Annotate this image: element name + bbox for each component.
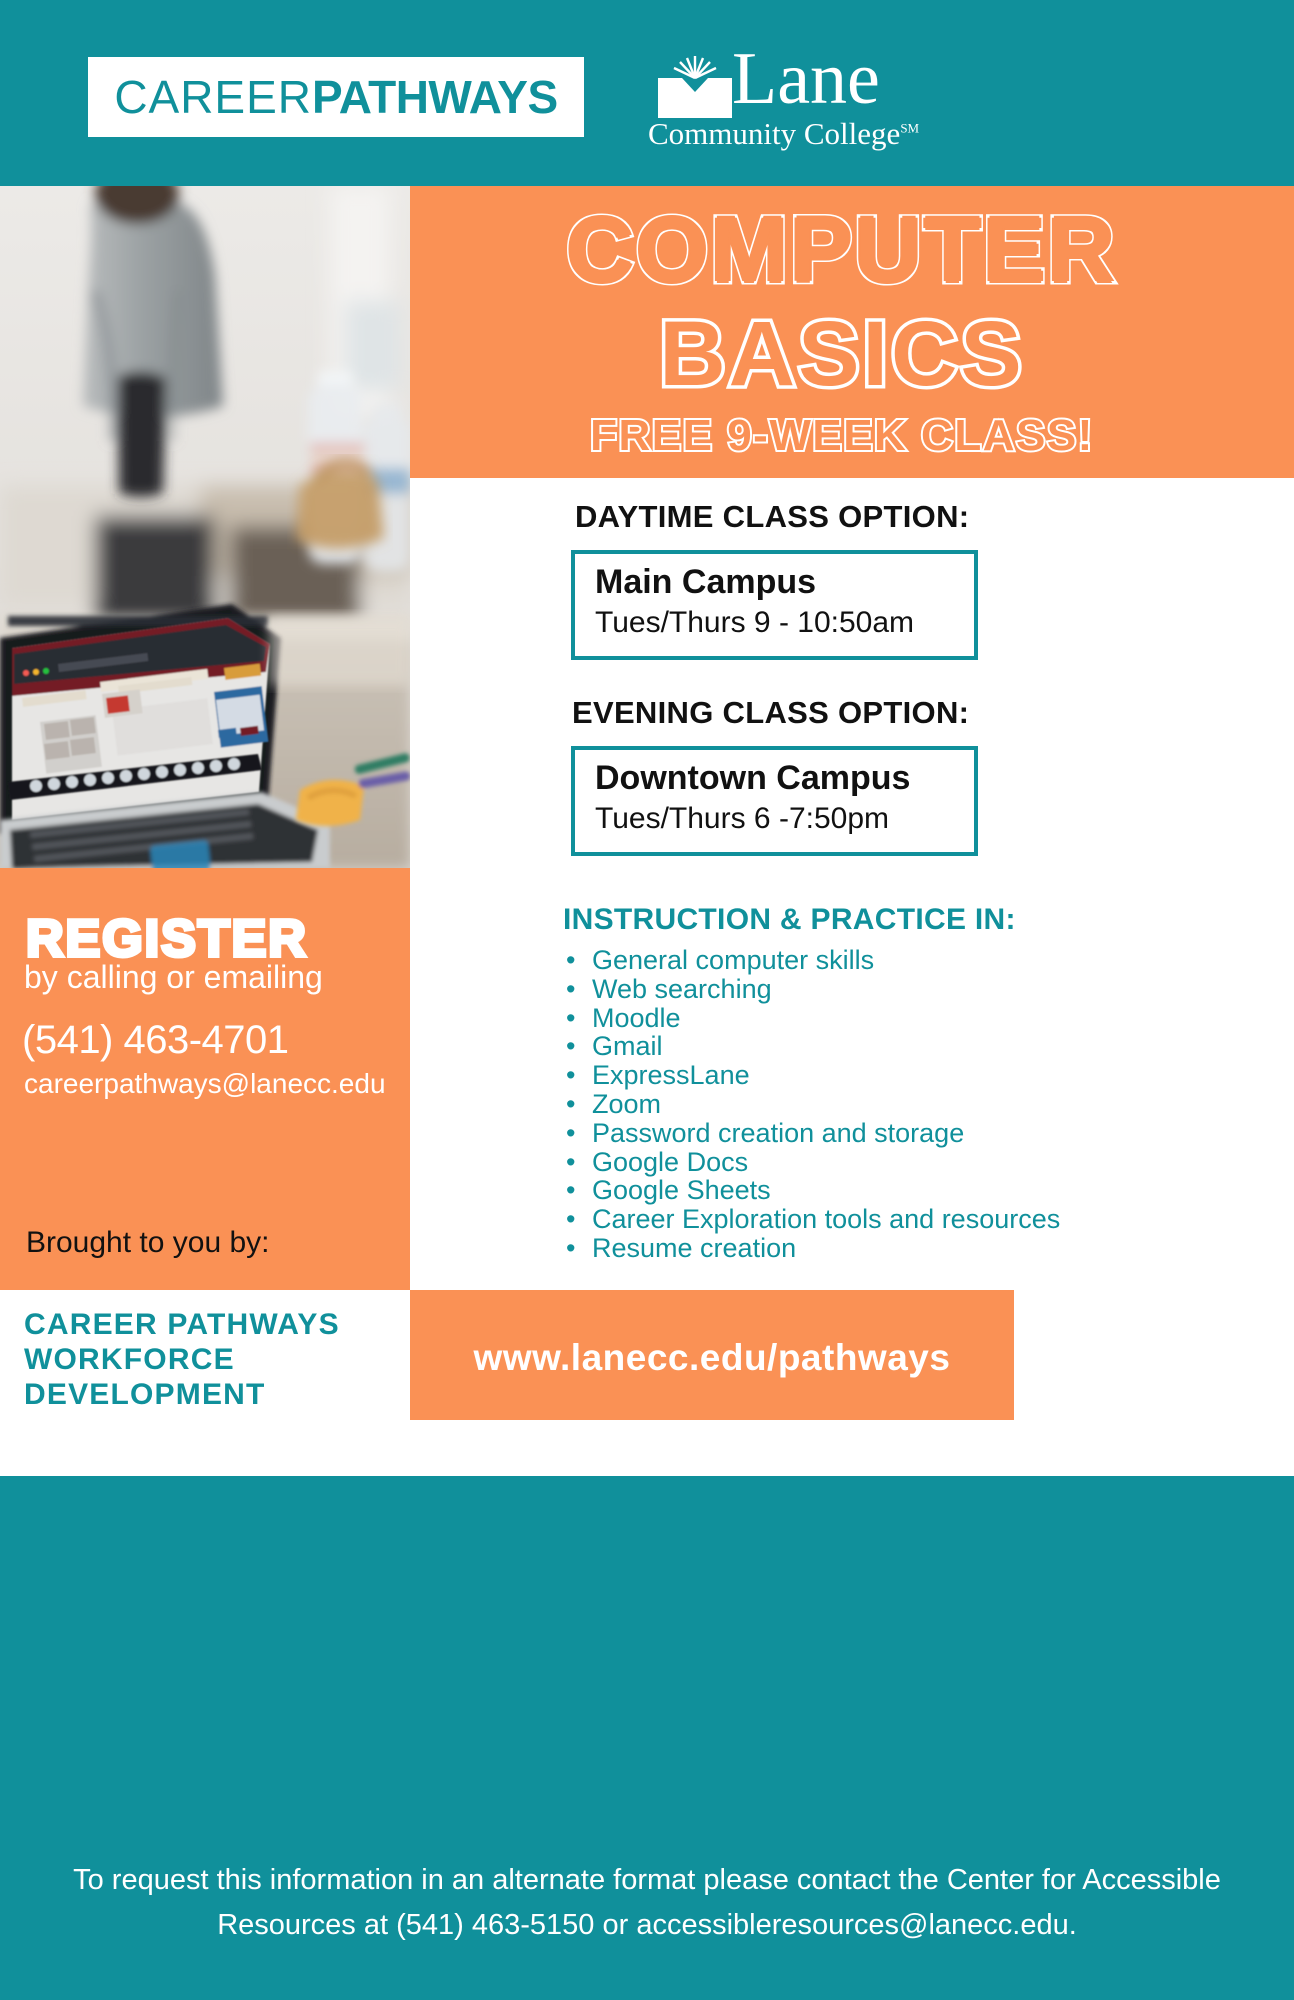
evening-option-label: EVENING CLASS OPTION: — [572, 695, 969, 731]
department-line1: CAREER PATHWAYS — [24, 1307, 340, 1342]
career-pathways-logo: CAREERPATHWAYS — [88, 57, 584, 137]
department-line2: WORKFORCE — [24, 1342, 340, 1377]
instruction-item: Gmail — [560, 1032, 1260, 1061]
footer-band: To request this information in an altern… — [0, 1476, 1294, 2000]
department-block: CAREER PATHWAYS WORKFORCE DEVELOPMENT — [0, 1290, 410, 1420]
lane-wordmark: Lane — [732, 42, 880, 116]
register-phone[interactable]: (541) 463-4701 — [22, 1018, 289, 1063]
evening-time: Tues/Thurs 6 -7:50pm — [595, 802, 889, 836]
instruction-item: Google Sheets — [560, 1176, 1260, 1205]
register-email[interactable]: careerpathways@lanecc.edu — [24, 1068, 386, 1100]
lane-community-college-logo: Lane Community CollegeSM — [640, 48, 940, 158]
hero-photo — [0, 186, 410, 868]
accessibility-notice: To request this information in an altern… — [60, 1858, 1234, 1948]
hero-photo-illustration — [0, 186, 410, 868]
logo-word-career: CAREER — [114, 71, 312, 123]
evening-campus: Downtown Campus — [595, 759, 910, 798]
hero-title-block: COMPUTER BASICS FREE 9-WEEK CLASS! — [410, 186, 1294, 478]
instruction-heading: INSTRUCTION & PRACTICE IN: — [563, 903, 1016, 937]
instruction-item: Career Exploration tools and resources — [560, 1205, 1260, 1234]
instruction-item: Resume creation — [560, 1234, 1260, 1263]
hero-subtitle: FREE 9-WEEK CLASS! — [410, 414, 1274, 458]
instruction-list: General computer skillsWeb searchingMood… — [560, 946, 1260, 1263]
daytime-time: Tues/Thurs 9 - 10:50am — [595, 606, 914, 640]
evening-option-box: Downtown Campus Tues/Thurs 6 -7:50pm — [571, 746, 978, 856]
department-line3: DEVELOPMENT — [24, 1377, 340, 1412]
career-pathways-logo-text: CAREERPATHWAYS — [114, 74, 557, 120]
instruction-item: Password creation and storage — [560, 1119, 1260, 1148]
department-name: CAREER PATHWAYS WORKFORCE DEVELOPMENT — [24, 1307, 340, 1412]
brought-to-you-by-label: Brought to you by: — [26, 1226, 270, 1260]
logo-word-pathways: PATHWAYS — [312, 71, 558, 123]
instruction-item: ExpressLane — [560, 1061, 1260, 1090]
instruction-item: Moodle — [560, 1004, 1260, 1033]
lane-sunburst-book-icon — [658, 56, 732, 118]
urlbar-right-filler — [1014, 1290, 1294, 1420]
class-options-section: DAYTIME CLASS OPTION: Main Campus Tues/T… — [410, 478, 1294, 1128]
service-mark: SM — [900, 121, 919, 136]
website-url[interactable]: www.lanecc.edu/pathways — [410, 1337, 1014, 1379]
lane-subtitle-text: Community College — [648, 116, 900, 151]
register-subtitle: by calling or emailing — [24, 959, 323, 996]
daytime-campus: Main Campus — [595, 563, 816, 602]
register-block: REGISTER by calling or emailing (541) 46… — [0, 868, 410, 1290]
lower-white-filler — [0, 1420, 1294, 1476]
instruction-item: General computer skills — [560, 946, 1260, 975]
daytime-option-box: Main Campus Tues/Thurs 9 - 10:50am — [571, 550, 978, 660]
hero-title-line2: BASICS — [410, 308, 1274, 400]
header-band: CAREERPATHWAYS Lane Community CollegeSM — [0, 0, 1294, 186]
hero-title-line1-text: COMPUTER — [567, 199, 1117, 301]
instruction-item: Zoom — [560, 1090, 1260, 1119]
lane-subtitle: Community CollegeSM — [648, 118, 919, 149]
daytime-option-label: DAYTIME CLASS OPTION: — [575, 499, 969, 535]
instruction-item: Web searching — [560, 975, 1260, 1004]
website-url-bar[interactable]: www.lanecc.edu/pathways — [410, 1290, 1014, 1420]
hero-title-line1: COMPUTER — [410, 204, 1274, 296]
hero-title-line2-text: BASICS — [659, 303, 1025, 405]
instruction-item: Google Docs — [560, 1148, 1260, 1177]
hero-subtitle-text: FREE 9-WEEK CLASS! — [590, 411, 1094, 460]
